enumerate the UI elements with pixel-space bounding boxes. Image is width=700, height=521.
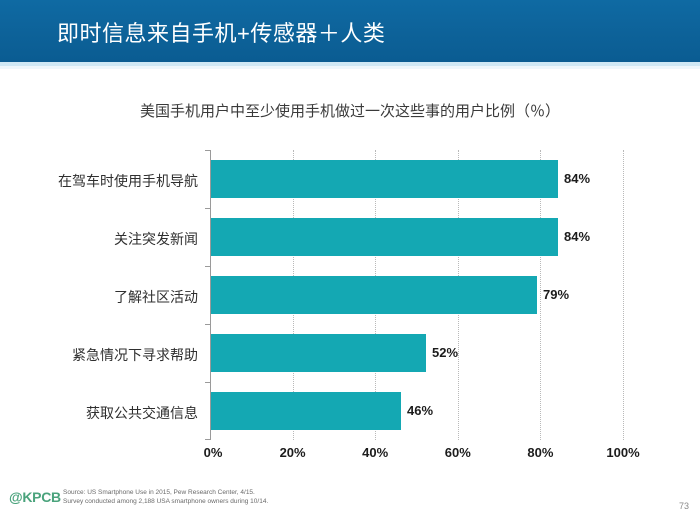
category-label: 紧急情况下寻求帮助 [0, 345, 198, 365]
category-label: 了解社区活动 [0, 287, 198, 307]
x-tick-label-100: 100% [606, 445, 639, 460]
y-axis-tick [205, 266, 210, 267]
category-label: 关注突发新闻 [0, 229, 198, 249]
x-tick-label-0: 0% [204, 445, 223, 460]
page-title: 即时信息来自手机+传感器＋人类 [57, 16, 385, 48]
y-axis-tick [205, 324, 210, 325]
y-axis-tick [205, 150, 210, 151]
x-tick-label-60: 60% [445, 445, 471, 460]
gridline-100 [623, 150, 624, 440]
source-note: Source: US Smartphone Use in 2015, Pew R… [63, 489, 268, 506]
x-tick-label-20: 20% [280, 445, 306, 460]
y-axis-tick [205, 382, 210, 383]
x-tick-label-80: 80% [527, 445, 553, 460]
kpcb-logo: @KPCB [9, 489, 61, 505]
chart-category-axis: 在驾车时使用手机导航 关注突发新闻 了解社区活动 紧急情况下寻求帮助 获取公共交… [0, 150, 198, 440]
bar-value-3: 52% [432, 345, 458, 360]
bar-2 [211, 276, 537, 314]
bar-value-1: 84% [564, 229, 590, 244]
category-label: 在驾车时使用手机导航 [0, 171, 198, 191]
slide-header-banner: 即时信息来自手机+传感器＋人类 [0, 0, 700, 62]
chart-plot-area: 84% 84% 79% 52% 46% 0% 20% 40% 60% 80% 1… [210, 150, 623, 440]
bar-3 [211, 334, 426, 372]
x-tick-label-40: 40% [362, 445, 388, 460]
y-axis-tick [205, 439, 210, 440]
y-axis-tick [205, 208, 210, 209]
bar-value-2: 79% [543, 287, 569, 302]
bar-1 [211, 218, 558, 256]
bar-4 [211, 392, 401, 430]
source-note-line-1: Source: US Smartphone Use in 2015, Pew R… [63, 489, 268, 498]
source-note-line-2: Survey conducted among 2,188 USA smartph… [63, 498, 268, 507]
page-number: 73 [679, 501, 689, 511]
bar-value-0: 84% [564, 171, 590, 186]
bar-value-4: 46% [407, 403, 433, 418]
slide-body: 美国手机用户中至少使用手机做过一次这些事的用户比例（％） 在驾车时使用手机导航 … [0, 69, 700, 521]
category-label: 获取公共交通信息 [0, 403, 198, 423]
bar-chart: 在驾车时使用手机导航 关注突发新闻 了解社区活动 紧急情况下寻求帮助 获取公共交… [0, 69, 700, 521]
bar-0 [211, 160, 558, 198]
